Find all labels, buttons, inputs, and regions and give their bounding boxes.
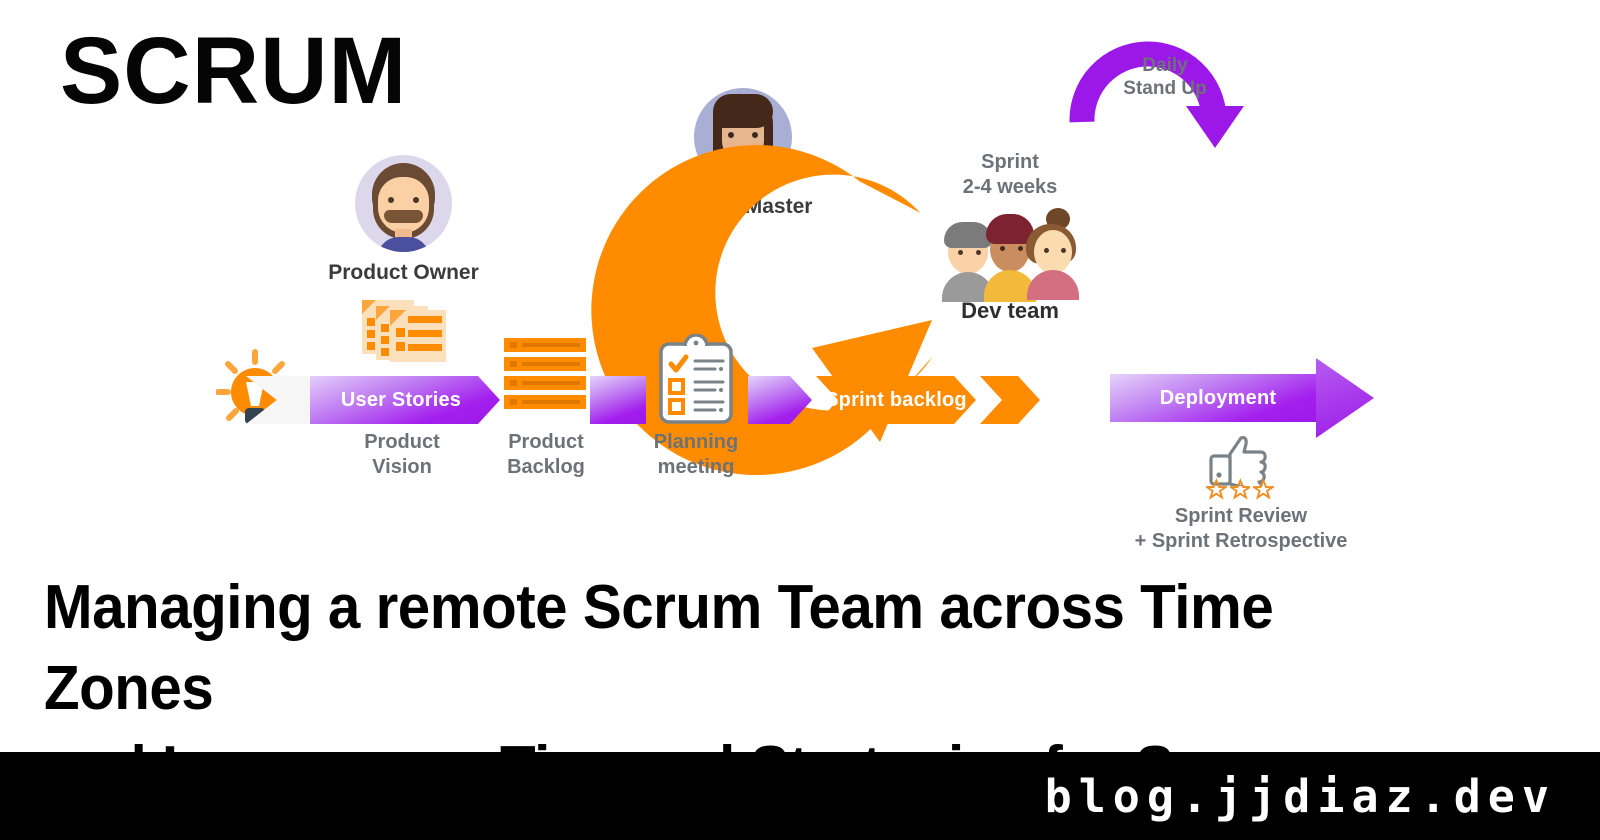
- page-title: SCRUM: [60, 23, 407, 118]
- dev-team-group: Dev team: [920, 198, 1100, 324]
- hair-shape: [944, 222, 992, 248]
- eye-left: [388, 197, 394, 203]
- band-label: Deployment: [1110, 374, 1326, 422]
- role-product-owner: Product Owner: [306, 155, 501, 285]
- headline-line-1: Managing a remote Scrum Team across Time…: [44, 573, 1273, 723]
- face-shape: [1034, 230, 1072, 274]
- band-label: User Stories: [302, 376, 500, 424]
- band-label: Sprint backlog: [816, 376, 976, 424]
- caption-product-vision: Product Vision: [342, 430, 462, 480]
- caption-product-backlog: Product Backlog: [486, 430, 606, 480]
- star-icon-2: [1230, 478, 1251, 500]
- pipeline-band-sprint-backlog[interactable]: Sprint backlog: [816, 376, 976, 424]
- sprint-duration-label: Sprint 2-4 weeks: [930, 150, 1090, 200]
- footer-bar: blog.jjdiaz.dev: [0, 752, 1600, 840]
- user-story-cards-icon: [360, 292, 452, 364]
- mustache-shape: [384, 210, 423, 223]
- eye-right: [976, 250, 981, 255]
- eye-right: [413, 197, 419, 203]
- eye-left: [958, 250, 963, 255]
- pipeline-band-deployment[interactable]: Deployment: [1110, 374, 1326, 422]
- star-icon-1: [1206, 478, 1227, 500]
- eye-left: [1044, 248, 1049, 253]
- eye-right: [752, 132, 758, 138]
- dev-team-avatars: [940, 198, 1080, 294]
- eye-right: [1018, 246, 1023, 251]
- deployment-arrowhead-icon: [1316, 358, 1374, 438]
- shirt-shape: [377, 237, 430, 252]
- clipboard-icon: [655, 334, 737, 426]
- blog-domain-label: blog.jjdiaz.dev: [1045, 770, 1556, 823]
- fringe-shape: [713, 94, 773, 128]
- eye-left: [1000, 246, 1005, 251]
- role-label: Product Owner: [306, 261, 501, 285]
- caption-sprint-review: Sprint Review + Sprint Retrospective: [1106, 504, 1376, 554]
- star-icon-3: [1253, 478, 1274, 500]
- daily-standup-arrow-icon: Daily Stand Up: [1058, 2, 1258, 152]
- eye-right: [1061, 248, 1066, 253]
- shirt-shape: [1027, 270, 1079, 300]
- pipeline-connector-1: [590, 376, 646, 424]
- product-backlog-icon: [504, 338, 586, 410]
- avatar-product-owner: [355, 155, 452, 252]
- eye-left: [728, 132, 734, 138]
- scrum-infographic-page: SCRUM Product Owner Scrum Master: [0, 0, 1600, 840]
- daily-standup-label: Daily Stand Up: [1110, 54, 1220, 100]
- caption-planning-meeting: Planning meeting: [636, 430, 756, 480]
- rating-stars: [1206, 478, 1274, 500]
- pipeline-band-user-stories[interactable]: User Stories: [302, 376, 500, 424]
